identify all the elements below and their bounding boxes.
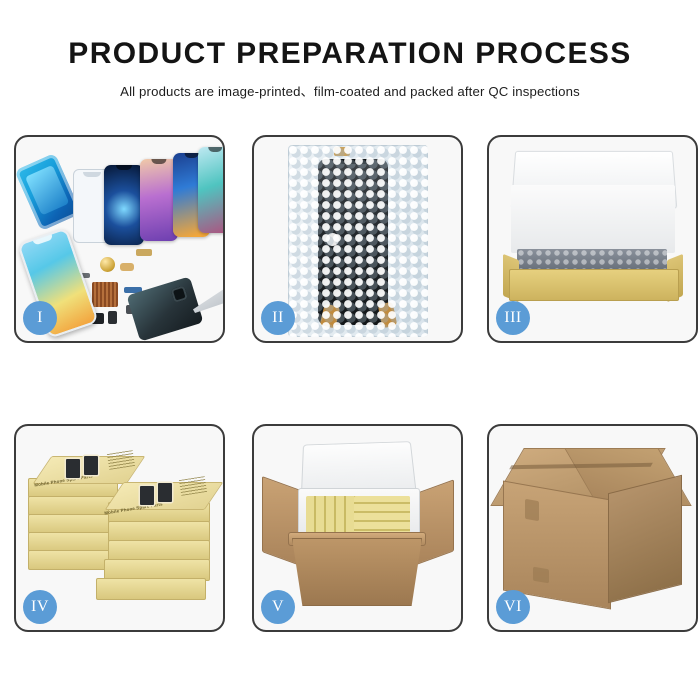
phone-icon <box>104 165 144 245</box>
phone-print-icon <box>158 483 172 502</box>
step-badge: I <box>23 301 57 335</box>
step-badge: IV <box>23 590 57 624</box>
step-badge: II <box>261 301 295 335</box>
bubble-bag <box>288 145 428 337</box>
panel-stacked-boxes: Mobile Phone Spare Parts Mobile Phone Sp… <box>14 424 225 632</box>
panel-bubble-wrap: II <box>252 135 463 343</box>
chip-part-icon <box>108 311 117 324</box>
process-step-grid: I II <box>0 0 700 700</box>
stacked-box <box>28 532 118 552</box>
carton-tape-icon <box>525 499 539 521</box>
foam-sheet-icon <box>511 185 675 253</box>
panel-inner-box: III <box>487 135 698 343</box>
stacked-box <box>28 514 118 534</box>
carton-body-icon <box>292 538 422 606</box>
carton-front-icon <box>503 480 611 609</box>
circuit-board-icon <box>92 282 118 307</box>
carton-tape-icon <box>533 567 549 584</box>
carton-side-icon <box>608 475 682 603</box>
tweezers-icon <box>193 287 225 313</box>
step-badge: VI <box>496 590 530 624</box>
phone-icon <box>198 147 225 233</box>
chip-part-icon <box>120 263 134 271</box>
step-badge: V <box>261 590 295 624</box>
stacked-box <box>108 540 210 561</box>
phone-print-icon <box>84 456 98 475</box>
stacked-box <box>96 578 206 600</box>
product-preparation-infographic: PRODUCT PREPARATION PROCESS All products… <box>0 0 700 700</box>
phone-print-icon <box>140 486 154 505</box>
stacked-box <box>108 521 210 542</box>
coil-part-icon <box>100 257 115 272</box>
phone-print-icon <box>66 459 80 478</box>
screen-protector-icon <box>14 153 81 231</box>
panel-carton-open: V <box>252 424 463 632</box>
box-base-icon <box>509 269 679 301</box>
bubble-texture <box>288 145 428 337</box>
panel-components: I <box>14 135 225 343</box>
step-badge: III <box>496 301 530 335</box>
panel-carton-sealed: VI <box>487 424 698 632</box>
chip-part-icon <box>136 249 152 256</box>
